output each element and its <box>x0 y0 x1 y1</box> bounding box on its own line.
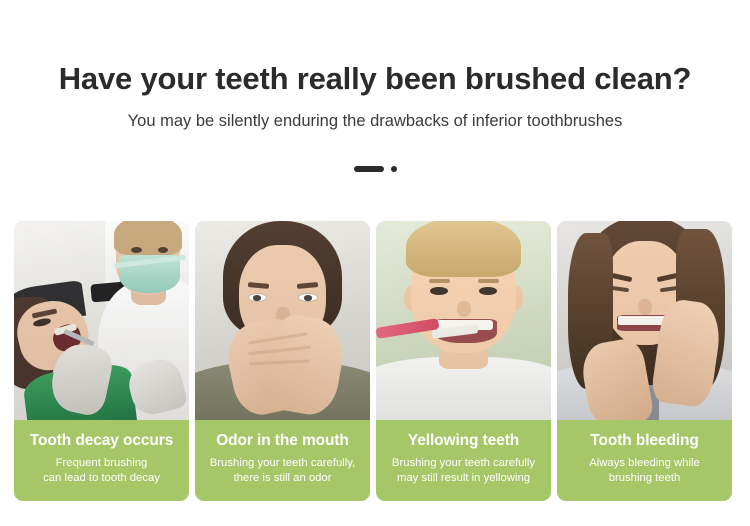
promo-page: Have your teeth really been brushed clea… <box>0 0 750 526</box>
divider-bar <box>354 166 384 172</box>
card-description: Brushing your teeth carefully, there is … <box>195 449 370 485</box>
card-caption: Tooth bleeding Always bleeding while bru… <box>557 420 732 501</box>
card-caption: Odor in the mouth Brushing your teeth ca… <box>195 420 370 501</box>
card-caption: Tooth decay occurs Frequent brushing can… <box>14 420 189 501</box>
boy-brushing-teeth-photo <box>376 221 551 421</box>
card-description: Frequent brushing can lead to tooth deca… <box>14 449 189 485</box>
card-title: Yellowing teeth <box>376 432 551 449</box>
card-title: Tooth bleeding <box>557 432 732 449</box>
page-subtitle: You may be silently enduring the drawbac… <box>0 96 750 132</box>
page-title: Have your teeth really been brushed clea… <box>0 0 750 96</box>
page-header: Have your teeth really been brushed clea… <box>0 0 750 132</box>
section-divider <box>0 163 750 175</box>
card-yellowing-teeth[interactable]: Yellowing teeth Brushing your teeth care… <box>376 221 551 501</box>
card-tooth-bleeding[interactable]: Tooth bleeding Always bleeding while bru… <box>557 221 732 501</box>
dental-patient-examination-photo <box>14 221 189 421</box>
woman-covering-mouth-photo <box>195 221 370 421</box>
card-description: Brushing your teeth carefully may still … <box>376 449 551 485</box>
card-title: Tooth decay occurs <box>14 432 189 449</box>
divider-dot <box>391 166 397 172</box>
woman-with-toothache-photo <box>557 221 732 421</box>
card-mouth-odor[interactable]: Odor in the mouth Brushing your teeth ca… <box>195 221 370 501</box>
card-caption: Yellowing teeth Brushing your teeth care… <box>376 420 551 501</box>
card-title: Odor in the mouth <box>195 432 370 449</box>
card-description: Always bleeding while brushing teeth <box>557 449 732 485</box>
card-tooth-decay[interactable]: Tooth decay occurs Frequent brushing can… <box>14 221 189 501</box>
cards-row: Tooth decay occurs Frequent brushing can… <box>14 221 736 501</box>
